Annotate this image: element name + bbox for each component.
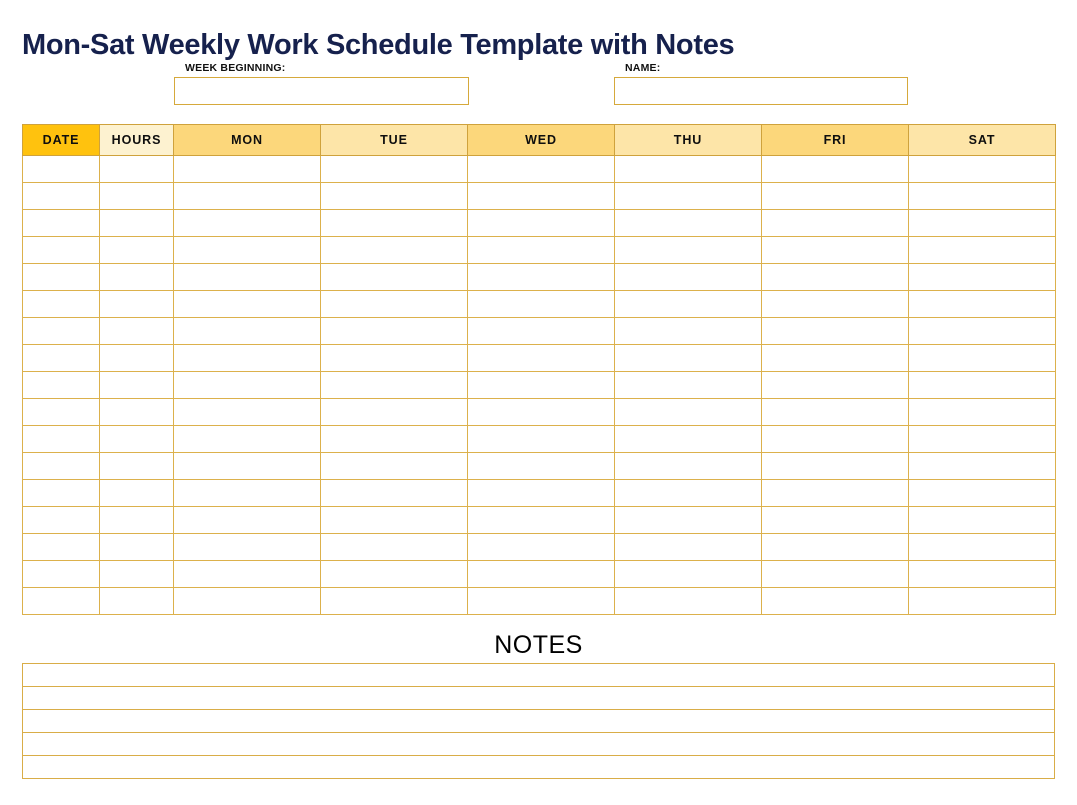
schedule-cell[interactable] [615,372,762,399]
schedule-cell[interactable] [23,453,100,480]
schedule-cell[interactable] [100,318,174,345]
notes-line-input[interactable] [23,733,1055,756]
schedule-cell[interactable] [468,426,615,453]
schedule-cell[interactable] [100,534,174,561]
schedule-cell[interactable] [321,345,468,372]
schedule-cell[interactable] [174,426,321,453]
schedule-cell[interactable] [615,588,762,615]
schedule-cell[interactable] [174,156,321,183]
schedule-cell[interactable] [174,318,321,345]
schedule-cell[interactable] [174,183,321,210]
schedule-cell[interactable] [762,156,909,183]
schedule-cell[interactable] [909,291,1056,318]
schedule-cell[interactable] [909,237,1056,264]
schedule-cell[interactable] [909,561,1056,588]
schedule-cell[interactable] [762,480,909,507]
table-row [23,210,1056,237]
notes-line-input[interactable] [23,687,1055,710]
schedule-cell[interactable] [468,507,615,534]
schedule-cell[interactable] [100,237,174,264]
schedule-cell[interactable] [909,156,1056,183]
schedule-cell[interactable] [100,156,174,183]
schedule-cell[interactable] [615,480,762,507]
schedule-cell[interactable] [100,507,174,534]
notes-row [23,733,1055,756]
notes-row [23,687,1055,710]
schedule-cell[interactable] [468,183,615,210]
schedule-cell[interactable] [615,264,762,291]
table-row [23,561,1056,588]
schedule-cell[interactable] [321,480,468,507]
schedule-cell[interactable] [100,264,174,291]
schedule-cell[interactable] [321,561,468,588]
schedule-cell[interactable] [468,534,615,561]
table-row [23,264,1056,291]
schedule-cell[interactable] [762,561,909,588]
schedule-cell[interactable] [615,453,762,480]
week-beginning-label: WEEK BEGINNING: [174,62,469,75]
schedule-cell[interactable] [762,183,909,210]
schedule-cell[interactable] [321,426,468,453]
form-fields-row: WEEK BEGINNING: NAME: [0,62,1077,114]
schedule-cell[interactable] [23,210,100,237]
schedule-cell[interactable] [762,372,909,399]
schedule-cell[interactable] [762,507,909,534]
schedule-cell[interactable] [321,399,468,426]
schedule-cell[interactable] [615,561,762,588]
schedule-cell[interactable] [909,399,1056,426]
table-row [23,534,1056,561]
schedule-header-sat[interactable]: SAT [909,125,1056,156]
schedule-cell[interactable] [100,210,174,237]
schedule-cell[interactable] [23,291,100,318]
table-row [23,480,1056,507]
schedule-cell[interactable] [909,426,1056,453]
schedule-cell[interactable] [615,183,762,210]
schedule-cell[interactable] [762,237,909,264]
week-beginning-field-group: WEEK BEGINNING: [174,62,469,105]
schedule-cell[interactable] [615,399,762,426]
schedule-cell[interactable] [909,318,1056,345]
table-row [23,426,1056,453]
schedule-cell[interactable] [321,372,468,399]
schedule-cell[interactable] [762,399,909,426]
schedule-cell[interactable] [615,318,762,345]
schedule-cell[interactable] [615,426,762,453]
schedule-cell[interactable] [174,399,321,426]
weekly-schedule-table: DATEHOURSMONTUEWEDTHUFRISAT [22,124,1056,615]
schedule-cell[interactable] [174,507,321,534]
schedule-cell[interactable] [909,372,1056,399]
schedule-cell[interactable] [174,291,321,318]
schedule-cell[interactable] [174,345,321,372]
table-row [23,183,1056,210]
schedule-cell[interactable] [468,588,615,615]
schedule-cell[interactable] [468,561,615,588]
schedule-cell[interactable] [762,318,909,345]
name-input[interactable] [614,77,908,105]
page-title: Mon-Sat Weekly Work Schedule Template wi… [22,29,734,62]
week-beginning-input[interactable] [174,77,469,105]
schedule-cell[interactable] [468,399,615,426]
schedule-body [23,156,1056,615]
schedule-cell[interactable] [909,453,1056,480]
schedule-cell[interactable] [174,534,321,561]
schedule-cell[interactable] [100,183,174,210]
notes-body [23,664,1055,779]
notes-line-input[interactable] [23,710,1055,733]
schedule-cell[interactable] [100,291,174,318]
schedule-cell[interactable] [468,453,615,480]
schedule-cell[interactable] [615,534,762,561]
schedule-cell[interactable] [23,156,100,183]
schedule-cell[interactable] [909,210,1056,237]
notes-line-input[interactable] [23,756,1055,779]
schedule-cell[interactable] [321,534,468,561]
schedule-cell[interactable] [174,210,321,237]
schedule-cell[interactable] [909,264,1056,291]
table-row [23,372,1056,399]
schedule-header-wed[interactable]: WED [468,125,615,156]
schedule-cell[interactable] [23,237,100,264]
schedule-header-fri[interactable]: FRI [762,125,909,156]
table-row [23,291,1056,318]
schedule-header-date[interactable]: DATE [23,125,100,156]
schedule-cell[interactable] [468,237,615,264]
schedule-cell[interactable] [100,399,174,426]
schedule-cell[interactable] [762,210,909,237]
schedule-cell[interactable] [174,372,321,399]
schedule-cell[interactable] [321,237,468,264]
schedule-cell[interactable] [615,210,762,237]
schedule-cell[interactable] [23,534,100,561]
schedule-cell[interactable] [23,480,100,507]
schedule-cell[interactable] [762,534,909,561]
schedule-cell[interactable] [909,588,1056,615]
schedule-header-thu[interactable]: THU [615,125,762,156]
notes-line-input[interactable] [23,664,1055,687]
schedule-cell[interactable] [321,183,468,210]
schedule-header-tue[interactable]: TUE [321,125,468,156]
schedule-cell[interactable] [321,210,468,237]
schedule-cell[interactable] [100,426,174,453]
schedule-cell[interactable] [174,480,321,507]
schedule-cell[interactable] [100,561,174,588]
schedule-cell[interactable] [321,507,468,534]
schedule-cell[interactable] [174,588,321,615]
schedule-cell[interactable] [762,264,909,291]
schedule-cell[interactable] [762,453,909,480]
schedule-cell[interactable] [468,291,615,318]
schedule-cell[interactable] [321,156,468,183]
schedule-cell[interactable] [762,426,909,453]
schedule-cell[interactable] [762,345,909,372]
schedule-cell[interactable] [909,183,1056,210]
schedule-cell[interactable] [100,372,174,399]
schedule-cell[interactable] [321,588,468,615]
schedule-cell[interactable] [615,507,762,534]
table-row [23,318,1056,345]
schedule-cell[interactable] [23,561,100,588]
schedule-cell[interactable] [615,237,762,264]
notes-row [23,710,1055,733]
schedule-cell[interactable] [23,345,100,372]
schedule-cell[interactable] [174,264,321,291]
schedule-cell[interactable] [23,264,100,291]
schedule-cell[interactable] [321,318,468,345]
schedule-cell[interactable] [174,561,321,588]
schedule-cell[interactable] [321,264,468,291]
schedule-cell[interactable] [909,507,1056,534]
schedule-cell[interactable] [909,480,1056,507]
schedule-cell[interactable] [615,291,762,318]
schedule-cell[interactable] [100,480,174,507]
schedule-cell[interactable] [909,345,1056,372]
schedule-cell[interactable] [23,399,100,426]
schedule-cell[interactable] [23,318,100,345]
notes-row [23,664,1055,687]
schedule-cell[interactable] [468,318,615,345]
table-row [23,156,1056,183]
notes-heading: NOTES [0,631,1077,660]
schedule-cell[interactable] [321,291,468,318]
schedule-cell[interactable] [468,156,615,183]
schedule-cell[interactable] [174,237,321,264]
schedule-cell[interactable] [23,183,100,210]
table-row [23,507,1056,534]
table-row [23,345,1056,372]
schedule-cell[interactable] [909,534,1056,561]
schedule-cell[interactable] [468,210,615,237]
schedule-cell[interactable] [762,291,909,318]
schedule-cell[interactable] [468,480,615,507]
table-row [23,399,1056,426]
table-row [23,588,1056,615]
table-row [23,237,1056,264]
schedule-cell[interactable] [321,453,468,480]
schedule-cell[interactable] [100,588,174,615]
schedule-cell[interactable] [468,372,615,399]
schedule-cell[interactable] [23,372,100,399]
schedule-cell[interactable] [615,156,762,183]
schedule-cell[interactable] [100,345,174,372]
schedule-cell[interactable] [23,507,100,534]
schedule-header-row: DATEHOURSMONTUEWEDTHUFRISAT [23,125,1056,156]
schedule-cell[interactable] [100,453,174,480]
schedule-cell[interactable] [23,588,100,615]
schedule-cell[interactable] [615,345,762,372]
schedule-cell[interactable] [762,588,909,615]
schedule-cell[interactable] [174,453,321,480]
notes-row [23,756,1055,779]
schedule-header-mon[interactable]: MON [174,125,321,156]
table-row [23,453,1056,480]
schedule-cell[interactable] [468,345,615,372]
name-label: NAME: [614,62,908,75]
schedule-header: DATEHOURSMONTUEWEDTHUFRISAT [23,125,1056,156]
schedule-cell[interactable] [468,264,615,291]
name-field-group: NAME: [614,62,908,105]
schedule-cell[interactable] [23,426,100,453]
schedule-header-hours[interactable]: HOURS [100,125,174,156]
notes-table [22,663,1055,779]
